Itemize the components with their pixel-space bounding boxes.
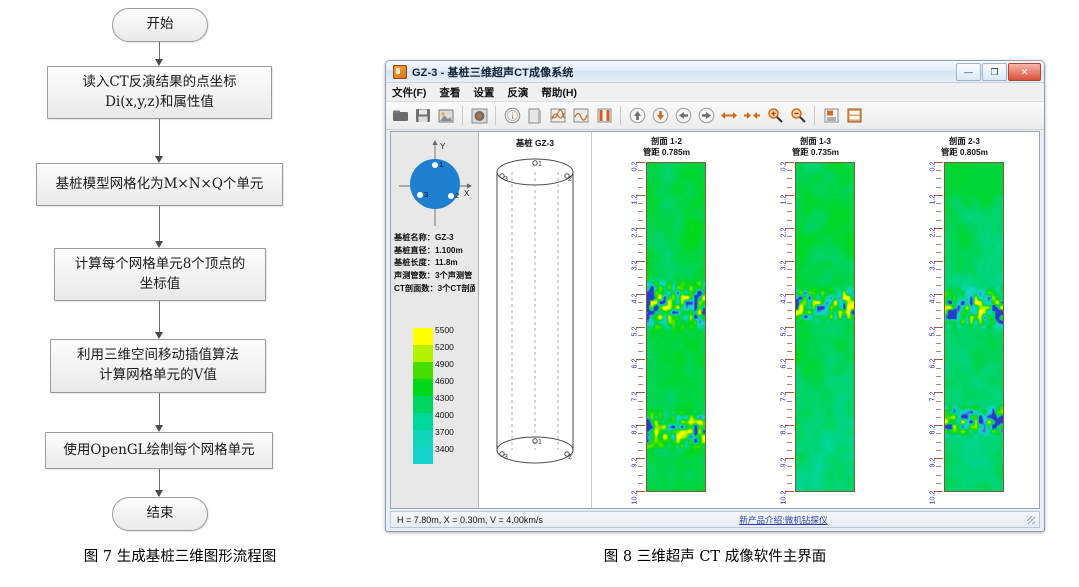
depth-tick-minor xyxy=(787,203,792,204)
menu-bar: 文件(F) 查看 设置 反演 帮助(H) xyxy=(386,83,1044,102)
depth-tick-label: 10.2 xyxy=(927,491,936,505)
close-button[interactable]: ✕ xyxy=(1008,63,1041,81)
depth-tick-minor xyxy=(936,368,941,369)
depth-tick-minor xyxy=(936,220,941,221)
flow-arrowhead-5 xyxy=(155,425,163,432)
menu-view[interactable]: 查看 xyxy=(439,85,460,100)
depth-tick-minor xyxy=(638,318,643,319)
depth-tick-minor xyxy=(936,203,941,204)
report-icon[interactable] xyxy=(524,105,546,126)
depth-tick-minor xyxy=(638,310,643,311)
tube-count-value: 3个声测管 xyxy=(435,271,472,280)
svg-text:Y: Y xyxy=(440,142,446,151)
depth-tick-minor xyxy=(787,277,792,278)
flow-arrowhead-1 xyxy=(155,59,163,66)
depth-tick-minor xyxy=(936,310,941,311)
waveform-single-icon[interactable] xyxy=(570,105,592,126)
depth-tick-minor xyxy=(638,368,643,369)
legend-swatch xyxy=(413,396,433,413)
flow-node-interpolation: 利用三维空间移动插值算法 计算网格单元的V值 xyxy=(50,339,266,393)
depth-tick-minor xyxy=(787,310,792,311)
depth-tick-minor xyxy=(936,376,941,377)
depth-tick-minor xyxy=(787,252,792,253)
tube-count-row: 声测管数：3个声测管 xyxy=(394,270,475,283)
depth-tick-minor xyxy=(787,220,792,221)
flow-node-start: 开始 xyxy=(112,8,208,42)
status-link-wrap: 新产品介绍:微机钻探仪 xyxy=(543,514,1024,526)
depth-tick-minor xyxy=(787,285,792,286)
app-icon xyxy=(393,65,407,79)
depth-tick-minor xyxy=(787,466,792,467)
depth-tick-minor xyxy=(638,269,643,270)
depth-tick-minor xyxy=(787,318,792,319)
new-product-link[interactable]: 新产品介绍:微机钻探仪 xyxy=(739,515,827,525)
menu-settings[interactable]: 设置 xyxy=(473,85,494,100)
pile-length-value: 11.8m xyxy=(435,258,458,267)
ct-section-2-3-tomogram[interactable] xyxy=(944,162,1004,492)
depth-tick-minor xyxy=(787,417,792,418)
resize-grip[interactable] xyxy=(1024,513,1037,526)
depth-tick-minor xyxy=(787,187,792,188)
ct-section-1-3-body: 0.21.22.23.24.25.26.27.28.29.210.2 xyxy=(777,162,855,492)
depth-tick-minor xyxy=(787,211,792,212)
depth-tick-minor xyxy=(936,442,941,443)
minimize-button[interactable]: — xyxy=(956,63,981,81)
pile-info-list: 基桩名称：GZ-3 基桩直径：1.100m 基桩长度：11.8m 声测管数：3个… xyxy=(394,232,475,296)
depth-tick-minor xyxy=(936,318,941,319)
legend-swatch xyxy=(413,379,433,396)
depth-tick-minor xyxy=(638,384,643,385)
info-icon[interactable]: i xyxy=(501,105,523,126)
depth-tick-minor xyxy=(787,269,792,270)
depth-tick-minor xyxy=(787,170,792,171)
depth-tick-minor xyxy=(787,409,792,410)
depth-tick-minor xyxy=(787,433,792,434)
ct-section-1-3-depth-axis: 0.21.22.23.24.25.26.27.28.29.210.2 xyxy=(787,162,795,492)
legend-swatch xyxy=(413,430,433,447)
pile-length-label: 基桩长度： xyxy=(394,258,435,267)
depth-tick-minor xyxy=(936,417,941,418)
svg-text:3: 3 xyxy=(504,454,508,461)
ct-section-1-2-title: 剖面 1-2 xyxy=(592,136,741,147)
ct-section-2-3-header: 剖面 2-3 管距 0.805m xyxy=(890,136,1039,158)
three-d-view-icon[interactable] xyxy=(468,105,490,126)
depth-tick-minor xyxy=(638,203,643,204)
flow-node-end: 结束 xyxy=(112,497,208,531)
toolbar-separator xyxy=(814,106,815,125)
legend-swatch xyxy=(413,345,433,362)
depth-tick-minor xyxy=(936,433,941,434)
figure-8-caption: 图 8 三维超声 CT 成像软件主界面 xyxy=(385,545,1045,566)
open-folder-icon[interactable] xyxy=(389,105,411,126)
depth-tick-minor xyxy=(936,343,941,344)
flow-node-vertex-coords: 计算每个网格单元8个顶点的 坐标值 xyxy=(54,248,266,301)
depth-tick-minor xyxy=(787,351,792,352)
depth-tick-minor xyxy=(787,302,792,303)
ct-section-2-3-spacing: 管距 0.805m xyxy=(890,147,1039,158)
flow-node-opengl-draw: 使用OpenGL绘制每个网格单元 xyxy=(45,432,273,469)
depth-tick-minor xyxy=(936,384,941,385)
depth-tick-minor xyxy=(787,368,792,369)
ct-section-1-3-header: 剖面 1-3 管距 0.735m xyxy=(741,136,890,158)
depth-tick-minor xyxy=(936,236,941,237)
pile-info-panel: 1 2 3 Y X 基桩名称：GZ-3 基桩直径：1.100m 基桩长度：11.… xyxy=(391,132,479,508)
legend-tick-label: 4900 xyxy=(435,356,454,373)
menu-help[interactable]: 帮助(H) xyxy=(541,85,577,100)
depth-tick-minor xyxy=(936,170,941,171)
depth-tick-minor xyxy=(638,442,643,443)
ct-section-1-3-title: 剖面 1-3 xyxy=(741,136,890,147)
depth-tick-minor xyxy=(787,343,792,344)
zoom-in-icon[interactable] xyxy=(764,105,786,126)
depth-tick-minor xyxy=(638,211,643,212)
depth-tick-minor xyxy=(936,483,941,484)
depth-tick-minor xyxy=(638,466,643,467)
ct-section-2-3[interactable]: 剖面 2-3 管距 0.805m 0.21.22.23.24.25.26.27.… xyxy=(890,132,1039,508)
exit-icon[interactable] xyxy=(843,105,865,126)
depth-tick-minor xyxy=(638,277,643,278)
depth-tick-minor xyxy=(936,450,941,451)
depth-tick-minor xyxy=(787,483,792,484)
depth-tick-minor xyxy=(638,433,643,434)
menu-inversion[interactable]: 反演 xyxy=(507,85,528,100)
svg-text:2: 2 xyxy=(455,191,459,200)
svg-text:1: 1 xyxy=(538,161,542,168)
flow-arrowhead-6 xyxy=(155,490,163,497)
flow-node-meshing: 基桩模型网格化为M×N×Q个单元 xyxy=(36,163,283,206)
legend-tick-label: 3400 xyxy=(435,441,454,458)
depth-tick-minor xyxy=(638,178,643,179)
depth-tick-minor xyxy=(638,401,643,402)
pile-view-title: 基桩 GZ-3 xyxy=(479,137,591,149)
flow-arrowhead-4 xyxy=(155,332,163,339)
toolbar-separator xyxy=(462,106,463,125)
ct-section-2-3-title: 剖面 2-3 xyxy=(890,136,1039,147)
toolbar-separator xyxy=(620,106,621,125)
depth-tick-label: 10.2 xyxy=(778,491,787,505)
depth-tick-minor xyxy=(787,450,792,451)
flow-arrowhead-2 xyxy=(155,156,163,163)
pile-3d-view[interactable]: 基桩 GZ-3 1 2 3 1 2 3 xyxy=(479,132,592,508)
depth-tick-minor xyxy=(787,401,792,402)
ct-section-1-3-spacing: 管距 0.735m xyxy=(741,147,890,158)
ct-section-1-2-header: 剖面 1-2 管距 0.785m xyxy=(592,136,741,158)
depth-tick-minor xyxy=(638,170,643,171)
depth-tick-minor xyxy=(936,269,941,270)
legend-tick-label: 5200 xyxy=(435,339,454,356)
depth-tick-minor xyxy=(787,335,792,336)
ct-section-1-2-spacing: 管距 0.785m xyxy=(592,147,741,158)
depth-tick-minor xyxy=(936,351,941,352)
toolbar: i xyxy=(386,102,1044,130)
depth-tick-minor xyxy=(638,376,643,377)
depth-tick-minor xyxy=(936,302,941,303)
tube-count-label: 声测管数： xyxy=(394,271,435,280)
depth-tick-minor xyxy=(936,285,941,286)
depth-tick-minor xyxy=(638,244,643,245)
flow-connector-5 xyxy=(159,393,160,428)
ct-section-1-2-depth-axis: 0.21.22.23.24.25.26.27.28.29.210.2 xyxy=(638,162,646,492)
toolbar-separator xyxy=(495,106,496,125)
depth-tick-minor xyxy=(787,442,792,443)
svg-text:X: X xyxy=(464,189,470,198)
depth-tick-minor xyxy=(936,277,941,278)
ct-section-1-2[interactable]: 剖面 1-2 管距 0.785m 0.21.22.23.24.25.26.27.… xyxy=(592,132,741,508)
window-titlebar[interactable]: GZ-3 - 基桩三维超声CT成像系统 — ❐ ✕ xyxy=(386,61,1044,83)
depth-tick-minor xyxy=(638,187,643,188)
flow-arrowhead-3 xyxy=(155,241,163,248)
depth-tick-minor xyxy=(787,178,792,179)
depth-tick-minor xyxy=(936,401,941,402)
flow-connector-3 xyxy=(159,206,160,244)
legend-swatch xyxy=(413,328,433,345)
move-down-icon[interactable] xyxy=(649,105,671,126)
legend-tick-label: 4600 xyxy=(435,373,454,390)
depth-tick-minor xyxy=(936,211,941,212)
depth-tick-minor xyxy=(936,335,941,336)
ct-section-1-2-tomogram[interactable] xyxy=(646,162,706,492)
figure-7-caption: 图 7 生成基桩三维图形流程图 xyxy=(0,545,360,566)
svg-text:2: 2 xyxy=(568,454,572,461)
move-right-icon[interactable] xyxy=(695,105,717,126)
legend-tick-label: 5500 xyxy=(435,322,454,339)
depth-tick-minor xyxy=(787,376,792,377)
depth-tick-minor xyxy=(638,450,643,451)
ct-section-2-3-body: 0.21.22.23.24.25.26.27.28.29.210.2 xyxy=(926,162,1004,492)
ct-section-1-2-body: 0.21.22.23.24.25.26.27.28.29.210.2 xyxy=(628,162,706,492)
flowchart-figure: 开始 读入CT反演结果的点坐标 Di(x,y,z)和属性值 基桩模型网格化为M×… xyxy=(0,0,360,540)
svg-text:2: 2 xyxy=(568,176,572,183)
depth-tick-minor xyxy=(787,236,792,237)
pile-diameter-row: 基桩直径：1.100m xyxy=(394,245,475,258)
depth-tick-minor xyxy=(638,483,643,484)
ct-sections-area: 剖面 1-2 管距 0.785m 0.21.22.23.24.25.26.27.… xyxy=(592,132,1039,508)
depth-tick-minor xyxy=(787,244,792,245)
depth-tick-minor xyxy=(638,351,643,352)
velocity-legend-labels: 55005200490046004300400037003400 xyxy=(435,322,454,458)
legend-swatch xyxy=(413,447,433,464)
pile-diameter-value: 1.100m xyxy=(435,246,463,255)
depth-tick-minor xyxy=(936,466,941,467)
svg-text:3: 3 xyxy=(504,176,508,183)
pile-length-row: 基桩长度：11.8m xyxy=(394,257,475,270)
ct-section-count-label: CT剖面数： xyxy=(394,284,438,293)
legend-swatch xyxy=(413,413,433,430)
depth-tick-minor xyxy=(936,244,941,245)
svg-text:3: 3 xyxy=(424,190,428,199)
depth-tick-label: 10.2 xyxy=(629,491,638,505)
depth-tick-minor xyxy=(936,409,941,410)
pile-name-row: 基桩名称：GZ-3 xyxy=(394,232,475,245)
pile-diameter-label: 基桩直径： xyxy=(394,246,435,255)
depth-tick-minor xyxy=(936,252,941,253)
depth-tick-minor xyxy=(787,384,792,385)
menu-file[interactable]: 文件(F) xyxy=(392,85,426,100)
depth-tick-minor xyxy=(936,178,941,179)
status-bar: H = 7.80m, X = 0.30m, V = 4.00km/s 新产品介绍… xyxy=(390,511,1040,528)
color-section-icon[interactable] xyxy=(593,105,615,126)
depth-tick-minor xyxy=(638,302,643,303)
save-icon[interactable] xyxy=(412,105,434,126)
flow-connector-2 xyxy=(159,119,160,159)
ct-section-2-3-depth-axis: 0.21.22.23.24.25.26.27.28.29.210.2 xyxy=(936,162,944,492)
status-readout: H = 7.80m, X = 0.30m, V = 4.00km/s xyxy=(391,515,543,525)
depth-tick-minor xyxy=(638,236,643,237)
depth-tick-minor xyxy=(638,475,643,476)
move-left-icon[interactable] xyxy=(672,105,694,126)
waveform-icon[interactable] xyxy=(547,105,569,126)
window-controls: — ❐ ✕ xyxy=(956,63,1041,81)
depth-tick-minor xyxy=(638,252,643,253)
flow-node-read-ct: 读入CT反演结果的点坐标 Di(x,y,z)和属性值 xyxy=(47,66,272,119)
ct-section-count-value: 3个CT剖面 xyxy=(438,284,475,293)
ct-section-1-3-tomogram[interactable] xyxy=(795,162,855,492)
ct-section-1-3[interactable]: 剖面 1-3 管距 0.735m 0.21.22.23.24.25.26.27.… xyxy=(741,132,890,508)
depth-tick-minor xyxy=(638,409,643,410)
window-title: GZ-3 - 基桩三维超声CT成像系统 xyxy=(412,64,573,80)
legend-tick-label: 3700 xyxy=(435,424,454,441)
depth-tick-minor xyxy=(638,285,643,286)
depth-tick-minor xyxy=(936,187,941,188)
export-image-icon[interactable] xyxy=(435,105,457,126)
svg-text:1: 1 xyxy=(538,439,542,446)
depth-tick-minor xyxy=(936,475,941,476)
legend-swatch xyxy=(413,362,433,379)
depth-tick-minor xyxy=(638,343,643,344)
application-window: GZ-3 - 基桩三维超声CT成像系统 — ❐ ✕ 文件(F) 查看 设置 反演… xyxy=(385,60,1045,532)
pile-name-label: 基桩名称： xyxy=(394,233,435,242)
velocity-color-legend xyxy=(413,328,433,464)
zoom-out-icon[interactable] xyxy=(787,105,809,126)
shrink-horizontal-icon[interactable] xyxy=(741,105,763,126)
stretch-horizontal-icon[interactable] xyxy=(718,105,740,126)
legend-tick-label: 4000 xyxy=(435,407,454,424)
flow-connector-4 xyxy=(159,301,160,335)
workspace: 1 2 3 Y X 基桩名称：GZ-3 基桩直径：1.100m 基桩长度：11.… xyxy=(390,131,1040,509)
legend-tick-label: 4300 xyxy=(435,390,454,407)
depth-tick-minor xyxy=(787,475,792,476)
svg-text:1: 1 xyxy=(439,160,443,169)
print-icon[interactable] xyxy=(820,105,842,126)
pile-cross-section-diagram: 1 2 3 Y X xyxy=(394,136,475,228)
depth-tick-minor xyxy=(638,335,643,336)
maximize-button[interactable]: ❐ xyxy=(982,63,1007,81)
depth-tick-minor xyxy=(638,220,643,221)
pile-name-value: GZ-3 xyxy=(435,233,454,242)
ct-section-count-row: CT剖面数：3个CT剖面 xyxy=(394,283,475,296)
move-up-icon[interactable] xyxy=(626,105,648,126)
depth-tick-minor xyxy=(638,417,643,418)
